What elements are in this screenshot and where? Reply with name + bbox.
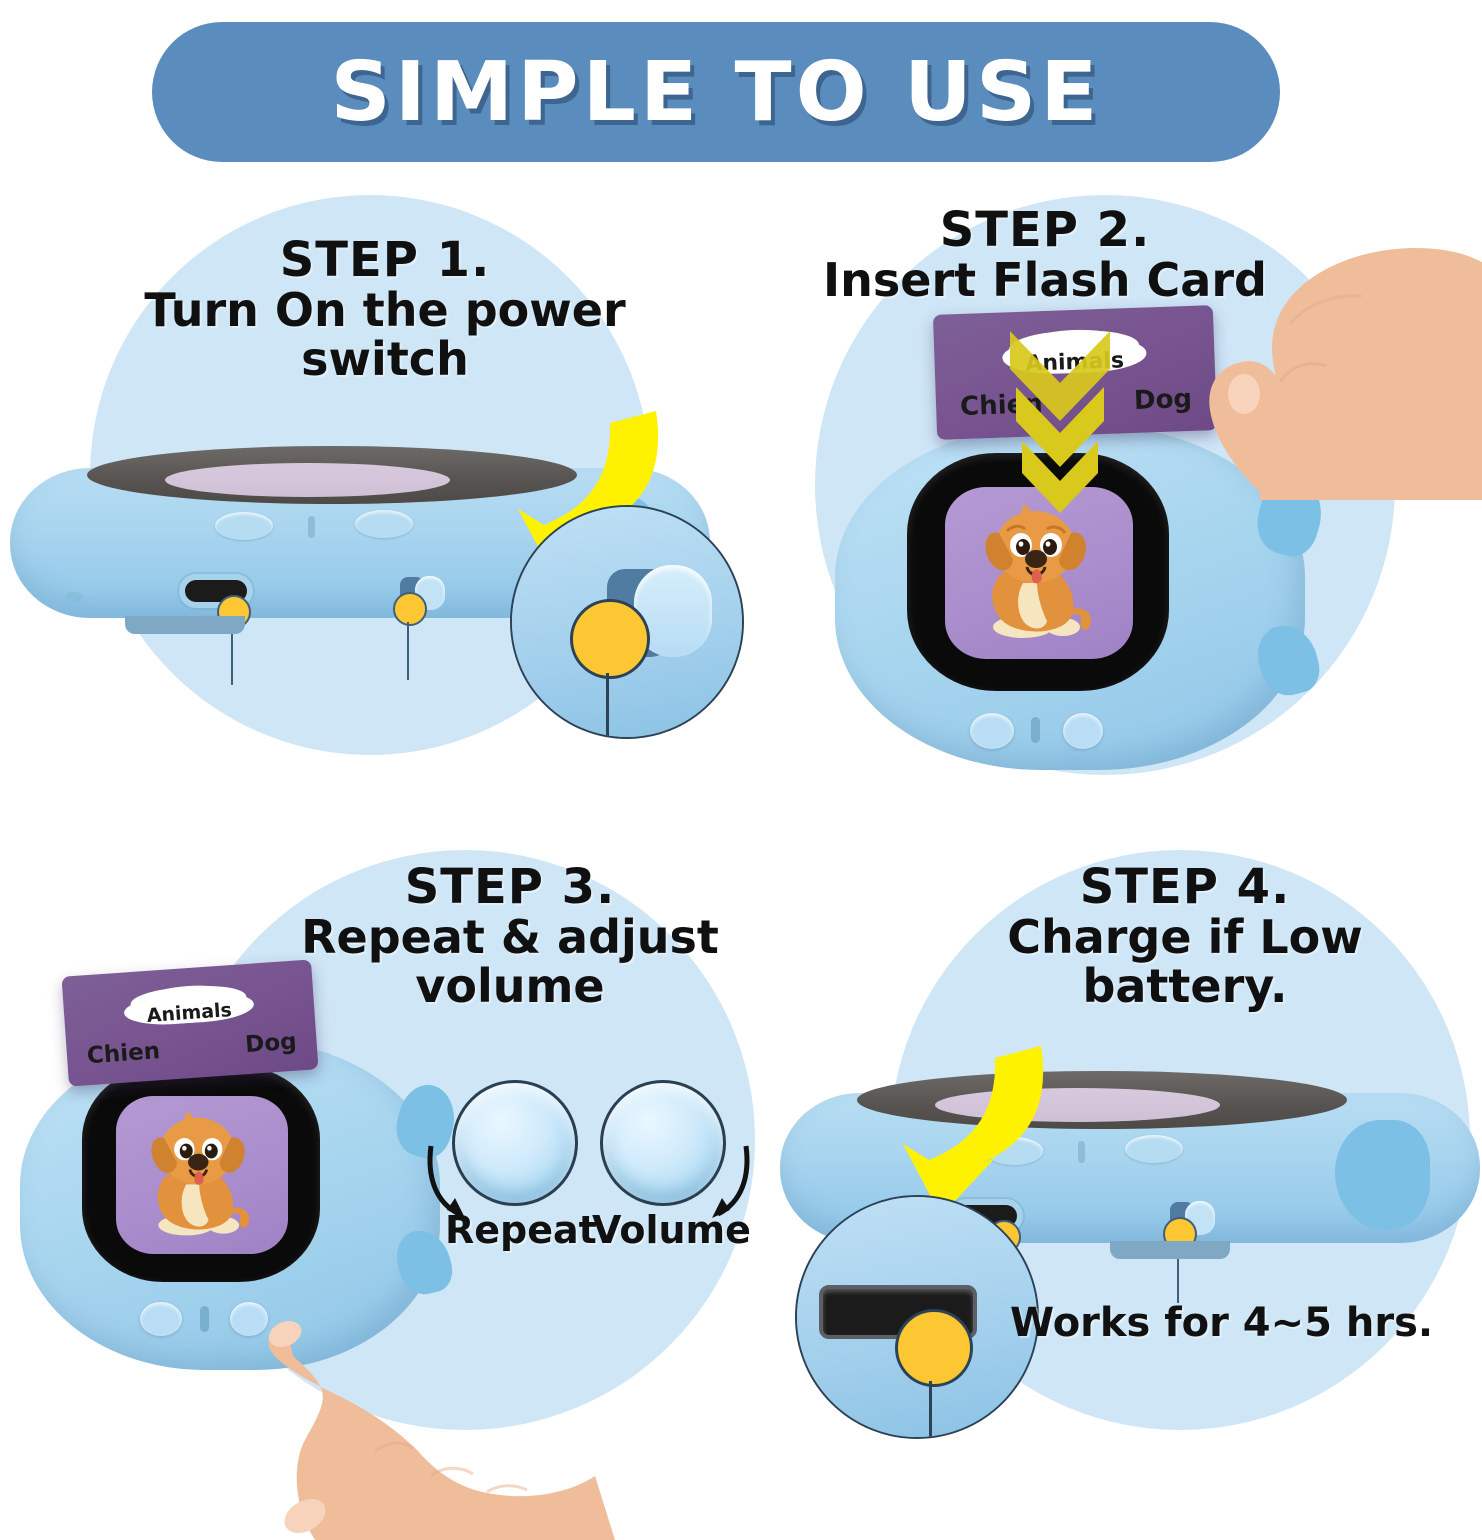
device-screen xyxy=(116,1096,288,1254)
device-button-right[interactable] xyxy=(1063,713,1103,749)
step-2-panel: STEP 2. Insert Flash Card xyxy=(745,175,1482,815)
power-switch-marker xyxy=(393,592,427,626)
step-1-heading: STEP 1. Turn On the power switch xyxy=(120,235,650,383)
device-ear-fin xyxy=(1335,1120,1430,1230)
step-4-heading: STEP 4. Charge if Low battery. xyxy=(915,862,1455,1010)
battery-life-note: Works for 4~5 hrs. xyxy=(1010,1300,1470,1346)
device-nose-vent xyxy=(65,592,83,602)
step-4-line-2: battery. xyxy=(915,962,1455,1011)
microphone-slot-icon xyxy=(308,516,315,538)
step-1-panel: STEP 1. Turn On the power switch xyxy=(60,195,740,795)
header-banner: SIMPLE TO USE xyxy=(152,22,1280,162)
repeat-button-label: Repeat xyxy=(445,1208,580,1252)
page-title: SIMPLE TO USE xyxy=(330,45,1101,140)
step-1-line-1: Turn On the power xyxy=(120,286,650,335)
cartoon-dog-illustration xyxy=(971,505,1109,645)
flash-card[interactable]: Animals Chien Dog xyxy=(61,959,318,1086)
step-3-panel: STEP 3. Repeat & adjust volume xyxy=(20,840,760,1500)
card-right-word: Dog xyxy=(244,1029,297,1059)
magnifier-power-switch xyxy=(510,505,744,739)
step-4-line-1: Charge if Low xyxy=(915,913,1455,962)
microphone-slot-icon xyxy=(1031,717,1040,743)
microphone-slot-icon xyxy=(200,1306,209,1332)
step-3-line-2: volume xyxy=(265,962,755,1011)
power-switch-leader-line xyxy=(407,622,409,680)
device-foot xyxy=(1110,1241,1230,1259)
microphone-slot-icon xyxy=(1078,1141,1085,1163)
step-3-heading: STEP 3. Repeat & adjust volume xyxy=(265,862,755,1010)
device-top-screen-edge xyxy=(165,463,449,497)
yellow-down-chevrons-icon xyxy=(1000,325,1120,525)
step-1-number: STEP 1. xyxy=(120,235,650,286)
card-left-word: Chien xyxy=(86,1038,161,1069)
device-top-button-right xyxy=(1125,1135,1183,1163)
device-top-button-left xyxy=(215,512,273,540)
device-button-left[interactable] xyxy=(140,1302,182,1336)
usb-port-leader-line xyxy=(231,625,233,685)
step-3-number: STEP 3. xyxy=(265,862,755,913)
magnifier-charging-port xyxy=(795,1195,1039,1439)
step-4-number: STEP 4. xyxy=(915,862,1455,913)
step-3-line-1: Repeat & adjust xyxy=(265,913,755,962)
step-1-line-2: switch xyxy=(120,335,650,384)
cartoon-dog-illustration xyxy=(138,1112,266,1242)
step-4-panel: STEP 4. Charge if Low battery. Works for… xyxy=(760,840,1482,1480)
device-top-button-right xyxy=(355,510,413,538)
device-foot xyxy=(125,616,245,634)
hand-holding-card xyxy=(1140,170,1482,500)
volume-button-label: Volume xyxy=(592,1208,727,1252)
device-button-left[interactable] xyxy=(970,713,1014,749)
